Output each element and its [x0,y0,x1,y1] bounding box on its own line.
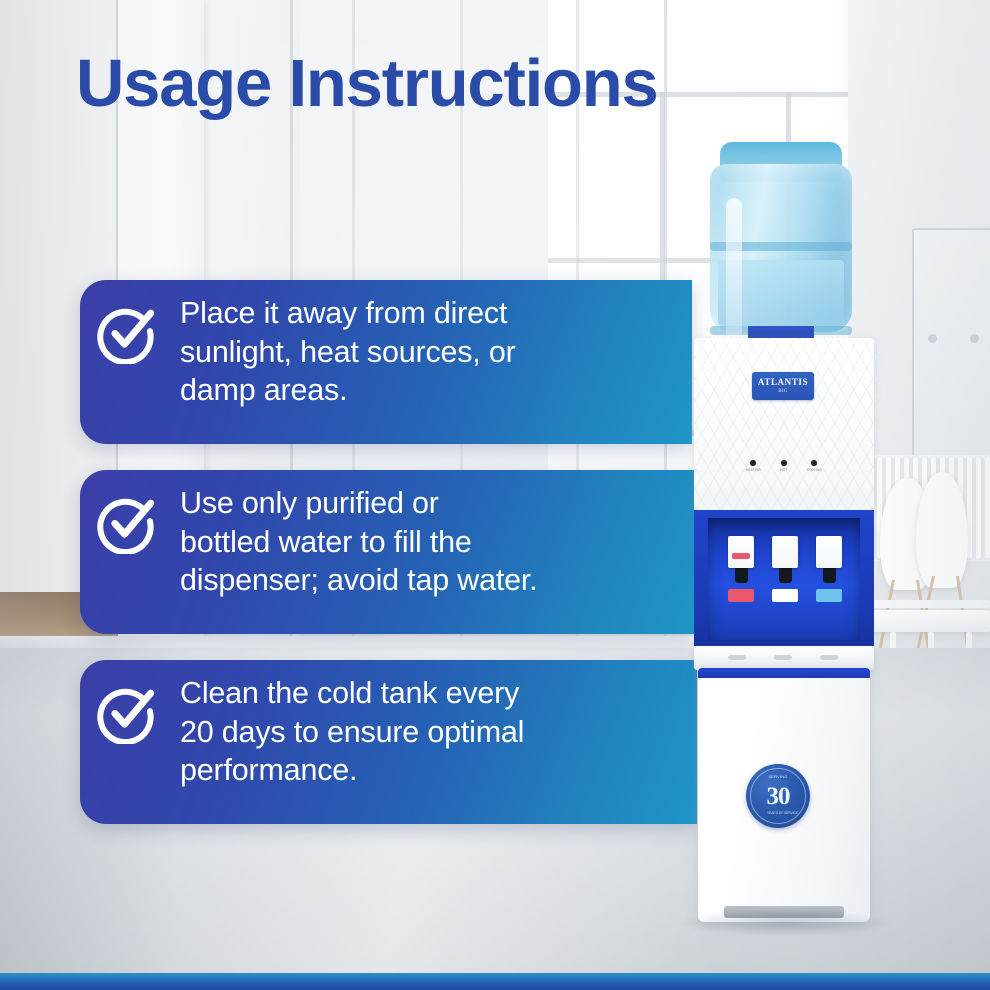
page-title: Usage Instructions [76,50,658,117]
indicator-led: COOLING [807,460,822,472]
instruction-text: Use only purified or bottled water to fi… [180,484,547,600]
anniversary-badge: SERVING 30 YEARS OF SERVICE [746,764,810,828]
check-circle-icon [96,492,158,554]
brand-name: ATLANTIS [758,378,808,387]
cold-tap[interactable] [816,536,842,602]
led-label: HEATING [746,468,761,472]
led-dot [750,460,756,466]
indicator-led: HOT [780,460,787,472]
indicator-led-row: HEATING HOT COOLING [746,460,822,472]
drip-tray [694,646,874,670]
indicator-led: HEATING [746,460,761,472]
badge-bottom-text: YEARS OF SERVICE [767,812,798,816]
instruction-card[interactable]: Clean the cold tank every 20 days to ens… [80,660,697,824]
instruction-text: Clean the cold tank every 20 days to ens… [180,674,534,790]
hot-tap[interactable] [728,536,754,602]
water-bottle [710,140,852,340]
badge-years: 30 [767,784,790,809]
brand-subtitle: BIG [778,389,788,394]
led-label: HOT [780,468,787,472]
led-dot [781,460,787,466]
dispenser-cabinet: SERVING 30 YEARS OF SERVICE [698,668,870,922]
badge-top-text: SERVING [768,774,787,779]
dispenser-top-unit: ATLANTIS BIG HEATING HOT COOLING [694,338,874,510]
instruction-card[interactable]: Place it away from direct sunlight, heat… [80,280,692,444]
instruction-text: Place it away from direct sunlight, heat… [180,294,526,410]
water-dispenser-product: ATLANTIS BIG HEATING HOT COOLING [686,140,886,930]
led-dot [811,460,817,466]
check-circle-icon [96,302,158,364]
instruction-card[interactable]: Use only purified or bottled water to fi… [80,470,695,634]
footer-bar [0,973,990,990]
normal-tap[interactable] [772,536,798,602]
brand-logo: ATLANTIS BIG [752,372,814,400]
dispenser-tap-bay [694,510,874,650]
poster-canvas: Usage Instructions Place it away from di… [0,0,990,990]
led-label: COOLING [807,468,822,472]
check-circle-icon [96,682,158,744]
